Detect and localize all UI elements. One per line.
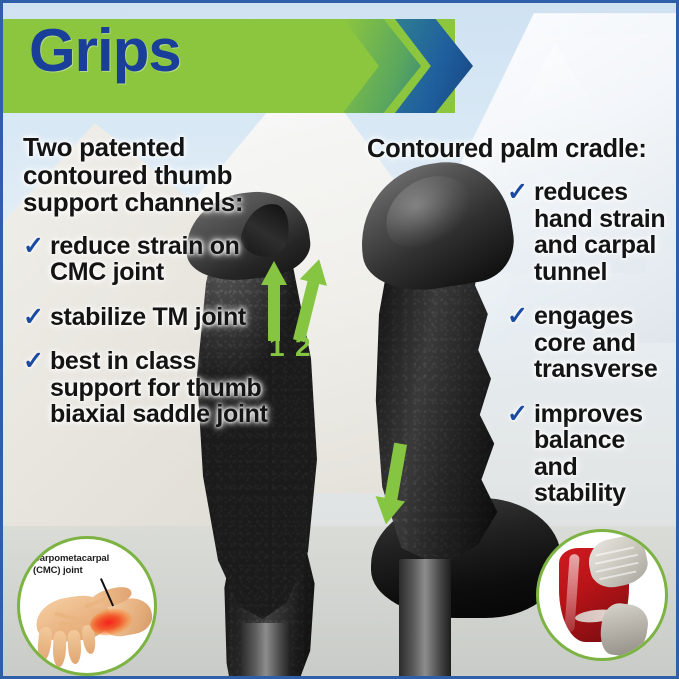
list-item: ✓ reduces hand strain and carpal tunnel xyxy=(507,179,672,285)
cmc-label-line-2: (CMC) joint xyxy=(33,565,137,577)
cmc-joint-inset: Carpometacarpal (CMC) joint xyxy=(17,536,157,676)
hand-anatomy-illustration xyxy=(24,575,152,667)
left-bullet-list: ✓ reduce strain on CMC joint ✓ stabilize… xyxy=(23,233,268,428)
finger-bone xyxy=(52,631,66,667)
check-icon: ✓ xyxy=(23,348,44,374)
torso-anatomy-illustration xyxy=(553,538,649,656)
bullet-text: best in class support for thumb biaxial … xyxy=(50,348,268,428)
cmc-label-line-1: Carpometacarpal xyxy=(33,553,137,565)
right-column-heading: Contoured palm cradle: xyxy=(367,136,672,163)
check-icon: ✓ xyxy=(23,304,44,330)
list-item: ✓ improves balance and stability xyxy=(507,401,672,507)
bullet-text: improves balance and stability xyxy=(534,401,672,507)
bullet-text: engages core and transverse xyxy=(534,303,672,383)
check-icon: ✓ xyxy=(23,233,44,259)
bullet-text: reduces hand strain and carpal tunnel xyxy=(534,179,672,285)
trekking-pole-shaft-left xyxy=(241,623,291,679)
product-infographic: Grips 1 2 Two p xyxy=(0,0,679,679)
list-item: ✓ reduce strain on CMC joint xyxy=(23,233,268,286)
finger-bone xyxy=(67,630,82,665)
list-item: ✓ engages core and transverse xyxy=(507,303,672,383)
bullet-text: stabilize TM joint xyxy=(50,304,246,331)
cmc-joint-label: Carpometacarpal (CMC) joint xyxy=(33,553,137,577)
bullet-text: reduce strain on CMC joint xyxy=(50,233,268,286)
rib-line xyxy=(599,570,637,580)
core-muscles-inset xyxy=(536,529,668,661)
channel-number-1: 1 xyxy=(269,333,285,361)
left-text-column: Two patented contoured thumb support cha… xyxy=(23,134,268,446)
check-icon: ✓ xyxy=(507,303,528,329)
trekking-pole-shaft-right xyxy=(399,559,451,679)
list-item: ✓ best in class support for thumb biaxia… xyxy=(23,348,268,428)
channel-number-2: 2 xyxy=(295,333,311,361)
finger-bone xyxy=(36,626,52,661)
right-bullet-list: ✓ reduces hand strain and carpal tunnel … xyxy=(507,179,672,507)
right-text-column: Contoured palm cradle: ✓ reduces hand st… xyxy=(367,136,672,525)
check-icon: ✓ xyxy=(507,401,528,427)
left-column-heading: Two patented contoured thumb support cha… xyxy=(23,134,268,217)
check-icon: ✓ xyxy=(507,179,528,205)
page-title: Grips xyxy=(29,21,181,81)
list-item: ✓ stabilize TM joint xyxy=(23,304,268,331)
pelvis-bone xyxy=(598,601,651,659)
